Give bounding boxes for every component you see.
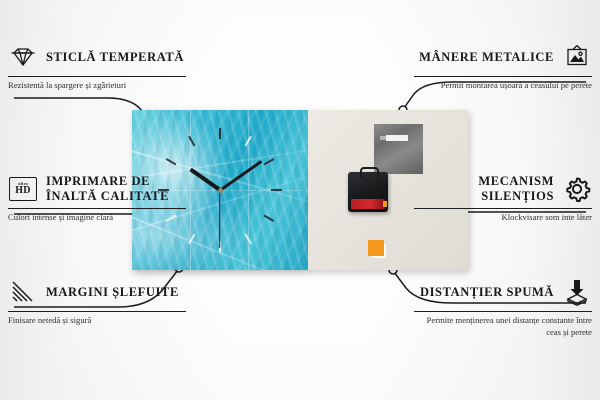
callout-rule bbox=[414, 311, 592, 312]
picture-frame-icon bbox=[562, 42, 592, 72]
callout-title: MARGINI ȘLEFUITE bbox=[46, 285, 186, 300]
callout-description: Finisare netedă și sigură bbox=[8, 315, 186, 326]
hand-center-cap bbox=[218, 188, 223, 193]
clock-mechanism-part bbox=[348, 172, 388, 212]
ultra-hd-icon: ultra HD bbox=[8, 174, 38, 204]
callout-description: Permit montarea ușoară a ceasului pe per… bbox=[414, 80, 592, 91]
callout-title: DISTANȚIER SPUMĂ bbox=[414, 285, 554, 300]
callout-polished-edges[interactable]: MARGINI ȘLEFUITE Finisare netedă și sigu… bbox=[8, 275, 186, 327]
callout-rule bbox=[8, 76, 186, 77]
callout-description: Klockvisare som inte låter bbox=[414, 212, 592, 223]
callout-foam-spacer[interactable]: DISTANȚIER SPUMĂ Permite menținerea unei… bbox=[414, 275, 592, 338]
diagonal-lines-icon bbox=[8, 277, 38, 307]
callout-tempered-glass[interactable]: STICLĂ TEMPERATĂ Rezistentă la spargere … bbox=[8, 40, 186, 92]
diamond-icon bbox=[8, 42, 38, 72]
gear-icon bbox=[562, 174, 592, 204]
mechanism-loop bbox=[360, 167, 379, 178]
callout-rule bbox=[8, 311, 186, 312]
battery-part bbox=[351, 199, 385, 209]
callout-rule bbox=[8, 208, 186, 209]
callout-description: Permite menținerea unei distanțe constan… bbox=[414, 315, 592, 338]
callout-high-quality-print[interactable]: ultra HD IMPRIMARE DE ÎNALTĂ CALITATE Cu… bbox=[8, 172, 186, 224]
metal-hanger-part bbox=[374, 124, 423, 174]
callout-rule bbox=[414, 208, 592, 209]
callout-title: MÂNERE METALICE bbox=[414, 50, 554, 65]
callout-silent-mechanism[interactable]: MECANISM SILENȚIOS Klockvisare som inte … bbox=[414, 172, 592, 224]
callout-title: MECANISM SILENȚIOS bbox=[414, 174, 554, 204]
infographic-stage: STICLĂ TEMPERATĂ Rezistentă la spargere … bbox=[0, 0, 600, 400]
callout-description: Rezistentă la spargere și zgârieturi bbox=[8, 80, 186, 91]
hour-marker bbox=[220, 189, 282, 191]
callout-title: STICLĂ TEMPERATĂ bbox=[46, 50, 186, 65]
callout-description: Culori intense și imagine clară bbox=[8, 212, 186, 223]
callout-title: IMPRIMARE DE ÎNALTĂ CALITATE bbox=[46, 174, 186, 204]
hanger-slot bbox=[386, 135, 408, 141]
ultra-hd-icon-main-label: HD bbox=[15, 186, 31, 196]
callout-metal-handles[interactable]: MÂNERE METALICE Permit montarea ușoară a… bbox=[414, 40, 592, 92]
foam-spacer-part bbox=[368, 240, 384, 256]
callout-rule bbox=[414, 76, 592, 77]
hour-marker bbox=[219, 128, 221, 190]
arrow-down-stack-icon bbox=[562, 277, 592, 307]
